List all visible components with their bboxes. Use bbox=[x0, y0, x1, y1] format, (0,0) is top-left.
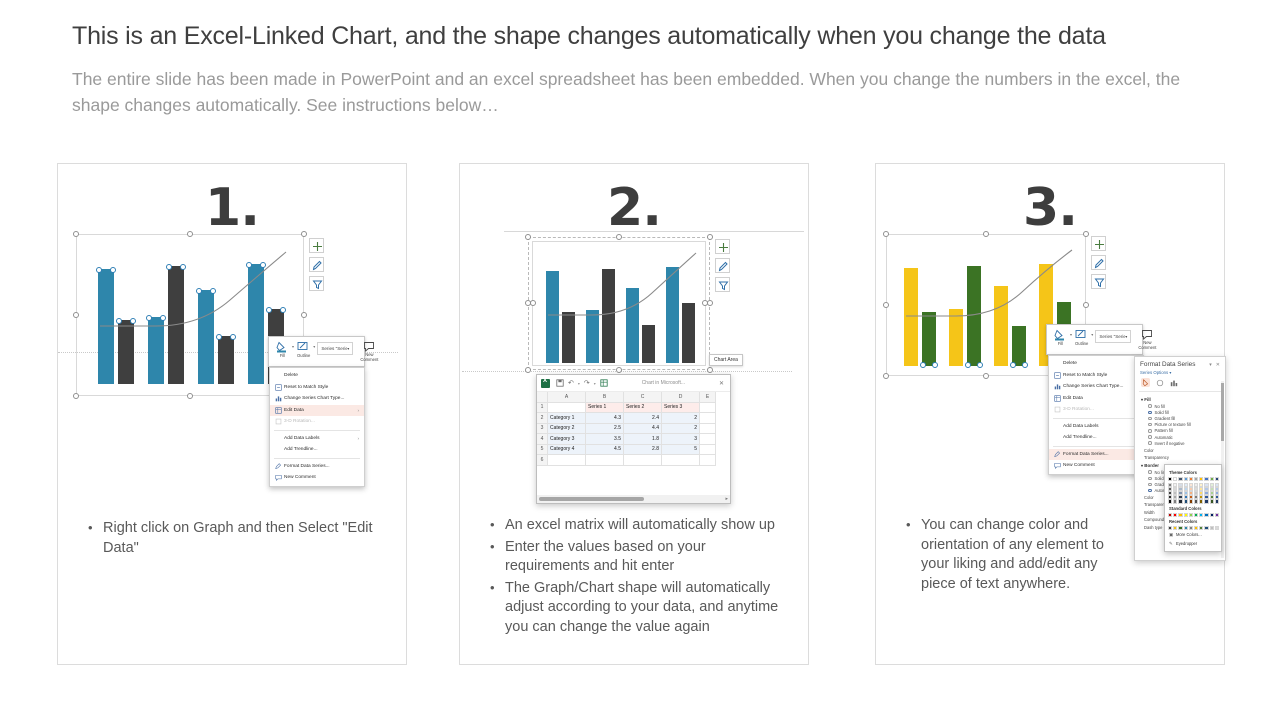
resize-handle-e[interactable] bbox=[301, 312, 307, 318]
theme-colors-grid[interactable] bbox=[1168, 477, 1218, 504]
resize-handle-s[interactable] bbox=[983, 373, 989, 379]
menu-item-add-trendline[interactable]: Add Trendline... bbox=[1049, 432, 1143, 444]
mini-toolbar[interactable]: Fill ▾ Outline ▾ Series "Series 2" ▾ New… bbox=[1046, 324, 1143, 355]
series-selector-label: Series "Series 2" bbox=[321, 346, 347, 351]
theme-colors-label: Theme Colors bbox=[1169, 470, 1218, 475]
pane-options-icon[interactable]: ▾ bbox=[1209, 362, 1212, 368]
cell-D2[interactable]: 2 bbox=[662, 413, 700, 424]
column-header-D[interactable]: D bbox=[662, 392, 700, 403]
option-label: Picture or texture fill bbox=[1155, 422, 1191, 427]
new-comment-button[interactable]: New Comment bbox=[357, 340, 381, 364]
chart-styles-icon[interactable] bbox=[1091, 255, 1106, 270]
radio-icon bbox=[1148, 441, 1152, 445]
comment-icon bbox=[363, 341, 376, 352]
menu-item-label: Add Data Labels bbox=[1063, 424, 1129, 429]
option-label: Solid fill bbox=[1155, 410, 1169, 415]
recent-swatch-0[interactable] bbox=[1168, 526, 1172, 530]
recent-colors-grid[interactable] bbox=[1168, 526, 1218, 530]
fill-section-header[interactable]: ▾ Fill bbox=[1135, 395, 1225, 403]
select-all-corner[interactable] bbox=[537, 392, 548, 403]
bullet-dot: • bbox=[490, 516, 505, 536]
cell-E5[interactable] bbox=[700, 445, 716, 456]
recent-swatch-3[interactable] bbox=[1184, 526, 1188, 530]
fill-options-group[interactable]: No fillSolid fillGradient fillPicture or… bbox=[1135, 403, 1225, 446]
menu-item-label: Format Data Series... bbox=[1063, 452, 1138, 457]
standard-swatch-3[interactable] bbox=[1184, 513, 1188, 517]
menu-item-format-data-series[interactable]: Format Data Series... bbox=[1049, 449, 1143, 461]
color-picker-popup[interactable]: Theme Colors Standard Colors Recent Colo… bbox=[1164, 464, 1222, 552]
standard-colors-grid[interactable] bbox=[1168, 513, 1218, 517]
theme-swatch-5[interactable] bbox=[1194, 477, 1198, 481]
column-header-B[interactable]: B bbox=[586, 392, 624, 403]
radio-icon bbox=[1148, 435, 1152, 439]
context-menu-3[interactable]: DeleteReset to Match StyleChange Series … bbox=[1048, 355, 1144, 475]
cell-C3[interactable]: 4.4 bbox=[624, 424, 662, 435]
radio-icon bbox=[1148, 470, 1152, 474]
standard-swatch-1[interactable] bbox=[1173, 513, 1177, 517]
new-comment-label: New Comment bbox=[1138, 341, 1156, 351]
rotation-icon bbox=[1052, 406, 1063, 413]
eyedropper-icon: ✎ bbox=[1169, 541, 1176, 547]
menu-item-label: Change Series Chart Type... bbox=[284, 396, 359, 401]
format-pane-title: Format Data Series bbox=[1140, 361, 1205, 368]
resize-handle-nw[interactable] bbox=[525, 234, 531, 240]
bullet-dot: • bbox=[906, 516, 921, 594]
undo-icon[interactable]: ↶ bbox=[568, 379, 574, 387]
bullet-list-2: • An excel matrix will automatically sho… bbox=[490, 516, 794, 639]
theme-swatch-7[interactable] bbox=[1204, 477, 1208, 481]
chart-plot-area bbox=[90, 250, 290, 384]
series-selector-label: Series "Series 2" bbox=[1099, 334, 1125, 339]
row-label: Color bbox=[1144, 448, 1220, 453]
recent-swatch-6[interactable] bbox=[1199, 526, 1203, 530]
menu-item-change-series-chart-type[interactable]: Change Series Chart Type... bbox=[1049, 381, 1143, 393]
resize-handle-nw[interactable] bbox=[883, 231, 889, 237]
menu-item-format-data-series[interactable]: Format Data Series... bbox=[270, 461, 364, 473]
theme-swatch-4[interactable] bbox=[1189, 477, 1193, 481]
step-panel-3: 3. bbox=[875, 163, 1225, 665]
fill-row-color[interactable]: Color bbox=[1135, 446, 1225, 453]
theme-shade4-swatch-4[interactable] bbox=[1189, 499, 1193, 503]
option-label: Gradient fill bbox=[1155, 416, 1176, 421]
chart-styles-icon[interactable] bbox=[715, 258, 730, 273]
alignment-guide-top bbox=[504, 231, 804, 232]
outline-icon bbox=[1075, 329, 1088, 341]
cell-E3[interactable] bbox=[700, 424, 716, 435]
table-row[interactable]: 1Series 1Series 2Series 3 bbox=[537, 403, 730, 414]
chart-styles-icon[interactable] bbox=[309, 257, 324, 272]
menu-separator bbox=[1053, 446, 1139, 447]
format-pane-header: Format Data Series ▾ ✕ bbox=[1135, 357, 1225, 370]
menu-item-change-series-chart-type[interactable]: Change Series Chart Type... bbox=[270, 393, 364, 405]
cell-B3[interactable]: 2.5 bbox=[586, 424, 624, 435]
table-row[interactable]: 5Category 44.52.85 bbox=[537, 445, 730, 456]
bullet-text: Enter the values based on your requireme… bbox=[505, 538, 794, 577]
submenu-chevron-icon: › bbox=[358, 408, 360, 413]
horizontal-scrollbar[interactable]: ▸ bbox=[537, 495, 730, 503]
step-number-2: 2. bbox=[460, 178, 808, 238]
column-header-row: ABCDE bbox=[537, 392, 730, 403]
menu-item-reset-to-match-style[interactable]: Reset to Match Style bbox=[270, 382, 364, 394]
theme-swatch-9[interactable] bbox=[1215, 477, 1219, 481]
chart-side-buttons bbox=[309, 238, 324, 295]
context-menu-1[interactable]: DeleteReset to Match StyleChange Series … bbox=[269, 367, 365, 487]
column-header-A[interactable]: A bbox=[548, 392, 586, 403]
radio-icon bbox=[1148, 423, 1152, 427]
menu-item-edit-data[interactable]: Edit Data› bbox=[1049, 393, 1143, 405]
cell-B6[interactable] bbox=[586, 455, 624, 466]
resize-handle-s[interactable] bbox=[187, 393, 193, 399]
list-item: • Right click on Graph and then Select "… bbox=[88, 519, 392, 558]
fill-label: Fill bbox=[280, 354, 285, 359]
series-selector[interactable]: Series "Series 2" ▾ bbox=[1095, 330, 1131, 343]
outline-button[interactable]: Outline bbox=[294, 340, 313, 360]
theme-swatch-0[interactable] bbox=[1168, 477, 1172, 481]
new-comment-label: New Comment bbox=[360, 353, 378, 363]
menu-item-label: Delete bbox=[1063, 361, 1138, 366]
table-row[interactable]: 4Category 33.51.83 bbox=[537, 434, 730, 445]
comment-icon bbox=[273, 474, 284, 481]
cell-A4[interactable]: Category 3 bbox=[548, 434, 586, 445]
resize-handle-w[interactable] bbox=[883, 302, 889, 308]
menu-item-new-comment[interactable]: New Comment bbox=[1049, 460, 1143, 472]
menu-item-delete[interactable]: Delete bbox=[270, 370, 364, 382]
menu-item-label: 3-D Rotation... bbox=[1063, 407, 1138, 412]
list-item: • The Graph/Chart shape will automatical… bbox=[490, 579, 794, 638]
new-comment-button[interactable]: New Comment bbox=[1135, 328, 1159, 352]
theme-swatch-6[interactable] bbox=[1199, 477, 1203, 481]
cell-C2[interactable]: 2.4 bbox=[624, 413, 662, 424]
chart-elements-icon[interactable] bbox=[715, 239, 730, 254]
scroll-right-arrow[interactable]: ▸ bbox=[725, 496, 728, 502]
recent-swatch-4[interactable] bbox=[1189, 526, 1193, 530]
option-label: Automatic bbox=[1155, 435, 1173, 440]
resize-handle-n[interactable] bbox=[187, 231, 193, 237]
reset-icon bbox=[1052, 372, 1063, 379]
eyedropper-item[interactable]: ✎ Eyedropper bbox=[1168, 539, 1218, 548]
row-header-4[interactable]: 4 bbox=[537, 434, 548, 445]
menu-separator bbox=[1053, 418, 1139, 419]
fill-button[interactable]: Fill bbox=[1051, 328, 1070, 348]
format-icon bbox=[273, 463, 284, 470]
radio-icon bbox=[1148, 477, 1152, 481]
series-options-tab-icon[interactable] bbox=[1169, 378, 1178, 387]
bullet-text: Right click on Graph and then Select "Ed… bbox=[103, 519, 392, 558]
list-item: • An excel matrix will automatically sho… bbox=[490, 516, 794, 536]
radio-icon bbox=[1148, 429, 1152, 433]
fill-label: Fill bbox=[1058, 342, 1063, 347]
recent-colors-label: Recent Colors bbox=[1169, 519, 1218, 524]
resize-handle-n[interactable] bbox=[616, 234, 622, 240]
chart-side-buttons bbox=[1091, 236, 1106, 293]
submenu-chevron-icon: › bbox=[358, 436, 360, 441]
theme-swatch-3[interactable] bbox=[1184, 477, 1188, 481]
theme-swatch-1[interactable] bbox=[1173, 477, 1177, 481]
bullet-list-1: • Right click on Graph and then Select "… bbox=[88, 519, 392, 560]
step-panel-2: 2. bbox=[459, 163, 809, 665]
cell-A5[interactable]: Category 4 bbox=[548, 445, 586, 456]
option-label: Invert if negative bbox=[1155, 441, 1185, 446]
resize-handle-w2[interactable] bbox=[530, 300, 536, 306]
step-number-3: 3. bbox=[876, 178, 1224, 238]
recent-swatch-5[interactable] bbox=[1194, 526, 1198, 530]
comment-icon bbox=[1052, 462, 1063, 469]
reset-icon bbox=[273, 384, 284, 391]
column-header-C[interactable]: C bbox=[624, 392, 662, 403]
row-label: Transparency bbox=[1144, 455, 1220, 460]
fill-icon bbox=[1054, 329, 1067, 341]
bullet-text: An excel matrix will automatically show … bbox=[505, 516, 794, 536]
row-header-2[interactable]: 2 bbox=[537, 413, 548, 424]
chart-plot-area bbox=[540, 251, 700, 363]
theme-shade4-swatch-3[interactable] bbox=[1184, 499, 1188, 503]
trendline-series3 bbox=[540, 251, 700, 363]
cell-C5[interactable]: 2.8 bbox=[624, 445, 662, 456]
recent-swatch-9[interactable] bbox=[1215, 526, 1219, 530]
chart-elements-icon[interactable] bbox=[1091, 236, 1106, 251]
row-header-3[interactable]: 3 bbox=[537, 424, 548, 435]
menu-item-label: Edit Data bbox=[284, 408, 350, 413]
close-icon[interactable]: ✕ bbox=[1216, 362, 1220, 368]
scrollbar-thumb[interactable] bbox=[1221, 383, 1224, 441]
resize-handle-ne[interactable] bbox=[707, 234, 713, 240]
row-header-6[interactable]: 6 bbox=[537, 455, 548, 466]
menu-separator bbox=[274, 430, 360, 431]
column-header-E[interactable]: E bbox=[700, 392, 716, 403]
cell-A1[interactable] bbox=[548, 403, 586, 414]
standard-swatch-5[interactable] bbox=[1194, 513, 1198, 517]
resize-handle-n[interactable] bbox=[983, 231, 989, 237]
chart-filters-icon[interactable] bbox=[1091, 274, 1106, 289]
theme-shade4-swatch-5[interactable] bbox=[1194, 499, 1198, 503]
cell-E1[interactable] bbox=[700, 403, 716, 414]
theme-swatch-2[interactable] bbox=[1178, 477, 1182, 481]
resize-handle-nw[interactable] bbox=[73, 231, 79, 237]
theme-shade4-swatch-9[interactable] bbox=[1215, 499, 1219, 503]
cell-B2[interactable]: 4.3 bbox=[586, 413, 624, 424]
outline-label: Outline bbox=[1075, 342, 1088, 347]
chart-type-icon bbox=[1052, 383, 1063, 390]
menu-item-add-data-labels[interactable]: Add Data Labels› bbox=[1049, 421, 1143, 433]
cell-E6[interactable] bbox=[700, 455, 716, 466]
menu-item-label: 3-D Rotation... bbox=[284, 419, 359, 424]
cell-A3[interactable]: Category 2 bbox=[548, 424, 586, 435]
radio-icon bbox=[1148, 417, 1152, 421]
step-number-1: 1. bbox=[58, 178, 406, 238]
cell-D4[interactable]: 3 bbox=[662, 434, 700, 445]
menu-item-label: Add Trendline... bbox=[284, 447, 359, 452]
rotation-icon bbox=[273, 418, 284, 425]
cell-C6[interactable] bbox=[624, 455, 662, 466]
cell-E4[interactable] bbox=[700, 434, 716, 445]
resize-handle-s[interactable] bbox=[616, 367, 622, 373]
menu-item-label: Delete bbox=[284, 373, 359, 378]
more-colors-item[interactable]: ▣ More Colors... bbox=[1168, 530, 1218, 539]
menu-item-delete[interactable]: Delete bbox=[1049, 358, 1143, 370]
resize-handle-e2[interactable] bbox=[702, 300, 708, 306]
cell-header-series-1[interactable]: Series 1 bbox=[586, 403, 624, 414]
bullet-text: The Graph/Chart shape will automatically… bbox=[505, 579, 794, 638]
row-header-1[interactable]: 1 bbox=[537, 403, 548, 414]
outline-icon bbox=[297, 341, 310, 353]
table-row[interactable]: 6 bbox=[537, 455, 730, 466]
row-header-5[interactable]: 5 bbox=[537, 445, 548, 456]
effects-tab-icon[interactable] bbox=[1155, 378, 1164, 387]
comment-icon bbox=[1141, 329, 1154, 340]
menu-item-add-data-labels[interactable]: Add Data Labels› bbox=[270, 433, 364, 445]
chart-filters-icon[interactable] bbox=[309, 276, 324, 291]
standard-swatch-9[interactable] bbox=[1215, 513, 1219, 517]
bullet-dot: • bbox=[490, 579, 505, 638]
cell-header-series-2[interactable]: Series 2 bbox=[624, 403, 662, 414]
radio-icon bbox=[1148, 483, 1152, 487]
standard-swatch-0[interactable] bbox=[1168, 513, 1172, 517]
standard-swatch-2[interactable] bbox=[1178, 513, 1182, 517]
menu-item-label: Add Data Labels bbox=[284, 436, 350, 441]
standard-swatch-7[interactable] bbox=[1204, 513, 1208, 517]
theme-shade4-swatch-0[interactable] bbox=[1168, 499, 1172, 503]
fill-icon bbox=[276, 341, 289, 353]
cell-A2[interactable]: Category 1 bbox=[548, 413, 586, 424]
resize-handle-ne[interactable] bbox=[1083, 231, 1089, 237]
recent-swatch-2[interactable] bbox=[1178, 526, 1182, 530]
menu-item-label: Change Series Chart Type... bbox=[1063, 384, 1138, 389]
list-item: • Enter the values based on your require… bbox=[490, 538, 794, 577]
cell-B4[interactable]: 3.5 bbox=[586, 434, 624, 445]
page-title: This is an Excel-Linked Chart, and the s… bbox=[72, 22, 1212, 51]
cell-B5[interactable]: 4.5 bbox=[586, 445, 624, 456]
cell-A6[interactable] bbox=[548, 455, 586, 466]
theme-shade4-swatch-1[interactable] bbox=[1173, 499, 1177, 503]
menu-separator bbox=[274, 458, 360, 459]
menu-item-label: Add Trendline... bbox=[1063, 435, 1138, 440]
bullet-dot: • bbox=[490, 538, 505, 577]
excel-window[interactable]: ↶ ▾ ↷ ▾ Chart in Microsoft... ✕ ABCDE1Se… bbox=[536, 374, 731, 504]
standard-swatch-8[interactable] bbox=[1210, 513, 1214, 517]
menu-item-label: Reset to Match Style bbox=[1063, 373, 1138, 378]
outline-label: Outline bbox=[297, 354, 310, 359]
cell-header-series-3[interactable]: Series 3 bbox=[662, 403, 700, 414]
edit-data-icon bbox=[1052, 395, 1063, 402]
table-icon bbox=[600, 379, 608, 387]
trendline-series3 bbox=[90, 250, 290, 384]
menu-item-edit-data[interactable]: Edit Data› bbox=[270, 405, 364, 417]
menu-item-label: Edit Data bbox=[1063, 396, 1129, 401]
redo-icon[interactable]: ↷ bbox=[584, 379, 590, 387]
menu-item-3-d-rotation: 3-D Rotation... bbox=[1049, 404, 1143, 416]
series-selector[interactable]: Series "Series 2" ▾ bbox=[317, 342, 353, 355]
excel-grid[interactable]: ABCDE1Series 1Series 2Series 32Category … bbox=[537, 392, 730, 466]
resize-handle-sw[interactable] bbox=[883, 373, 889, 379]
theme-shade4-swatch-6[interactable] bbox=[1199, 499, 1203, 503]
page-subtitle: The entire slide has been made in PowerP… bbox=[72, 66, 1202, 119]
cell-D3[interactable]: 2 bbox=[662, 424, 700, 435]
excel-logo-icon bbox=[541, 379, 550, 388]
menu-item-label: Format Data Series... bbox=[284, 464, 359, 469]
resize-handle-ne[interactable] bbox=[301, 231, 307, 237]
table-row[interactable]: 2Category 14.32.42 bbox=[537, 413, 730, 424]
standard-swatch-6[interactable] bbox=[1199, 513, 1203, 517]
fill-button[interactable]: Fill bbox=[273, 340, 292, 360]
resize-handle-se[interactable] bbox=[707, 367, 713, 373]
bullet-text: You can change color and orientation of … bbox=[921, 516, 1121, 594]
theme-shade4-swatch-2[interactable] bbox=[1178, 499, 1182, 503]
edit-data-icon bbox=[273, 407, 284, 414]
fill-row-transparency[interactable]: Transparency bbox=[1135, 454, 1225, 461]
chart-object-2[interactable]: Chart Area bbox=[528, 237, 768, 387]
fill-rows-group[interactable]: ColorTransparency bbox=[1135, 446, 1225, 461]
resize-handle-sw[interactable] bbox=[73, 393, 79, 399]
radio-icon bbox=[1148, 404, 1152, 408]
option-label: No fill bbox=[1155, 404, 1165, 409]
fill-line-tab-icon[interactable] bbox=[1141, 378, 1150, 387]
chart-side-buttons bbox=[715, 239, 730, 296]
chart-area-tooltip: Chart Area bbox=[709, 354, 743, 366]
resize-handle-sw[interactable] bbox=[525, 367, 531, 373]
standard-swatch-4[interactable] bbox=[1189, 513, 1193, 517]
menu-item-label: Reset to Match Style bbox=[284, 385, 359, 390]
bullet-dot: • bbox=[88, 519, 103, 558]
cell-C4[interactable]: 1.8 bbox=[624, 434, 662, 445]
close-icon[interactable]: ✕ bbox=[719, 380, 726, 387]
chart-filters-icon[interactable] bbox=[715, 277, 730, 292]
recent-swatch-8[interactable] bbox=[1210, 526, 1214, 530]
menu-item-label: New Comment bbox=[284, 475, 359, 480]
theme-swatch-8[interactable] bbox=[1210, 477, 1214, 481]
series-options-label[interactable]: Series Options ▾ bbox=[1135, 370, 1225, 377]
format-pane-tabs[interactable] bbox=[1135, 377, 1225, 390]
theme-shade4-swatch-7[interactable] bbox=[1204, 499, 1208, 503]
save-icon bbox=[556, 379, 564, 387]
resize-handle-w[interactable] bbox=[73, 312, 79, 318]
standard-colors-label: Standard Colors bbox=[1169, 506, 1218, 511]
alignment-guide bbox=[462, 371, 792, 372]
divider bbox=[1139, 391, 1221, 392]
palette-icon: ▣ bbox=[1169, 532, 1176, 538]
chart-elements-icon[interactable] bbox=[309, 238, 324, 253]
menu-item-3-d-rotation: 3-D Rotation... bbox=[270, 416, 364, 428]
excel-window-title: Chart in Microsoft... bbox=[608, 380, 719, 386]
radio-icon bbox=[1148, 411, 1152, 415]
theme-shade4-swatch-8[interactable] bbox=[1210, 499, 1214, 503]
recent-swatch-7[interactable] bbox=[1204, 526, 1208, 530]
recent-swatch-1[interactable] bbox=[1173, 526, 1177, 530]
menu-item-reset-to-match-style[interactable]: Reset to Match Style bbox=[1049, 370, 1143, 382]
step-panel-1: 1. bbox=[57, 163, 407, 665]
cell-E2[interactable] bbox=[700, 413, 716, 424]
scrollbar-thumb[interactable] bbox=[539, 497, 644, 501]
table-row[interactable]: 3Category 22.54.42 bbox=[537, 424, 730, 435]
radio-icon bbox=[1148, 489, 1152, 493]
outline-button[interactable]: Outline bbox=[1072, 328, 1091, 348]
menu-item-add-trendline[interactable]: Add Trendline... bbox=[270, 444, 364, 456]
cell-D6[interactable] bbox=[662, 455, 700, 466]
excel-titlebar: ↶ ▾ ↷ ▾ Chart in Microsoft... ✕ bbox=[537, 375, 730, 392]
chart-type-icon bbox=[273, 395, 284, 402]
option-label: Pattern fill bbox=[1155, 428, 1173, 433]
mini-toolbar[interactable]: Fill ▾ Outline ▾ Series "Series 2" ▾ New… bbox=[268, 336, 365, 367]
quick-access-toolbar[interactable]: ↶ ▾ ↷ ▾ bbox=[556, 379, 608, 387]
cell-D5[interactable]: 5 bbox=[662, 445, 700, 456]
menu-item-new-comment[interactable]: New Comment bbox=[270, 472, 364, 484]
menu-item-label: New Comment bbox=[1063, 463, 1138, 468]
format-icon bbox=[1052, 451, 1063, 458]
resize-handle-e[interactable] bbox=[1083, 302, 1089, 308]
